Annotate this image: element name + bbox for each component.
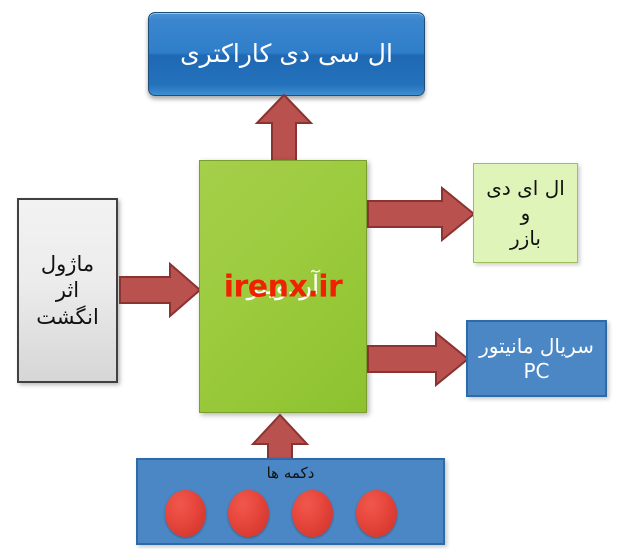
node-fingerprint-module-label: ماژول اثر انگشت	[36, 251, 99, 330]
arrow-arduino-to-serial-monitor	[366, 331, 470, 387]
push-button[interactable]	[165, 490, 206, 537]
diagram-canvas: ال سی دی کاراکتری ماژول اثر انگشت آردوین…	[0, 0, 624, 549]
node-serial-monitor-label: سریال مانیتور PC	[479, 334, 594, 384]
node-arduino-label: آردوینو	[247, 270, 319, 303]
node-buttons-panel: دکمه ها	[136, 458, 445, 545]
arrow-fingerprint-to-arduino	[118, 262, 202, 318]
node-led-buzzer: ال ای دی و بازر	[473, 163, 578, 263]
node-character-lcd-label: ال سی دی کاراکتری	[180, 38, 393, 69]
node-arduino: آردوینو irenx.ir	[199, 160, 367, 413]
arrow-arduino-to-led-buzzer	[366, 186, 476, 242]
push-button[interactable]	[228, 490, 269, 537]
node-character-lcd: ال سی دی کاراکتری	[148, 12, 425, 96]
node-buttons-panel-label: دکمه ها	[138, 464, 443, 483]
node-led-buzzer-label: ال ای دی و بازر	[486, 176, 565, 251]
push-button[interactable]	[292, 490, 333, 537]
push-button[interactable]	[356, 490, 397, 537]
node-fingerprint-module: ماژول اثر انگشت	[17, 198, 118, 383]
node-serial-monitor: سریال مانیتور PC	[466, 320, 607, 397]
arrow-arduino-to-lcd	[255, 93, 313, 163]
